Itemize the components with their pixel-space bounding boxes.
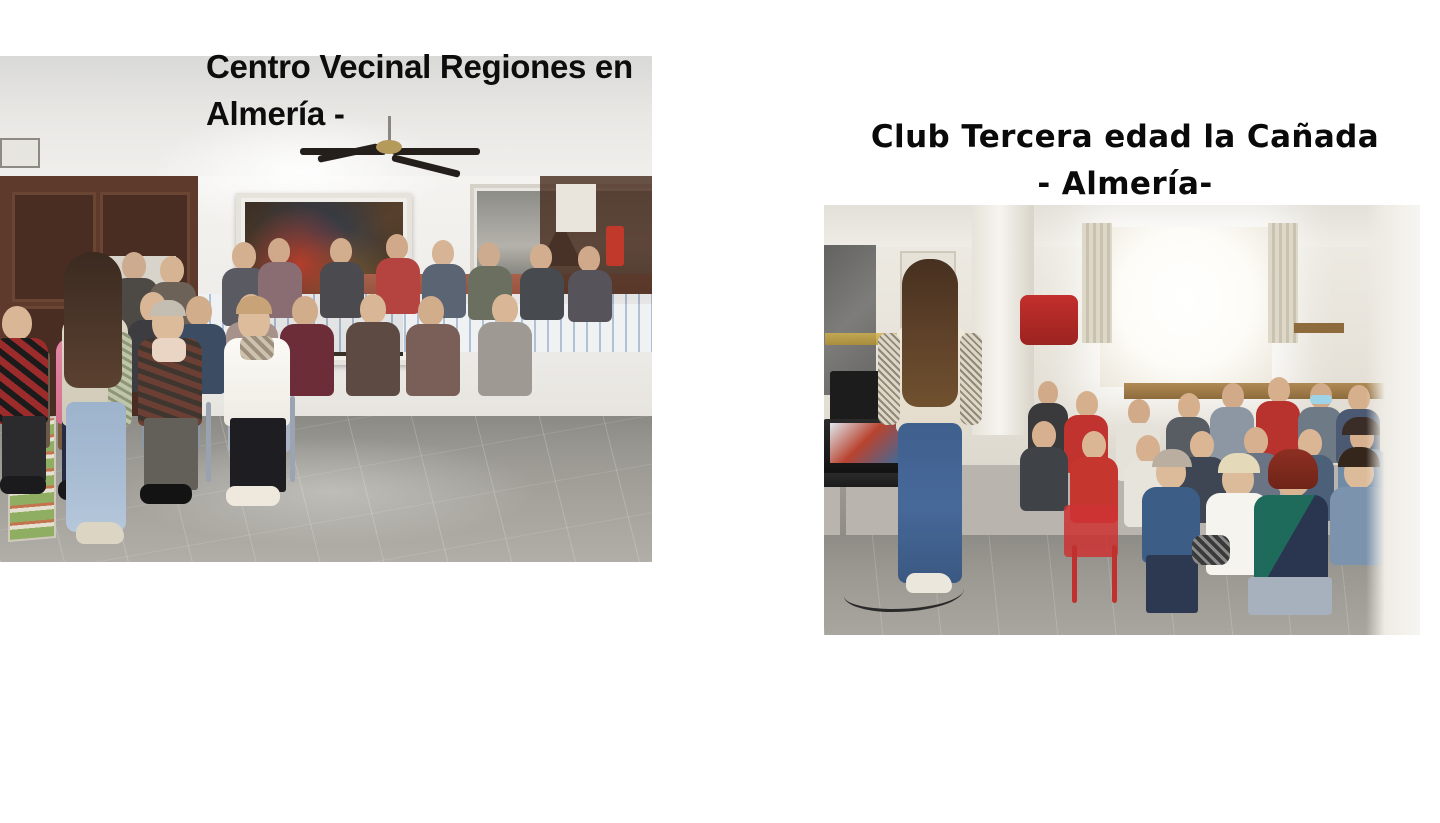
audience-head [1032,421,1056,449]
audience-shoe [140,484,192,504]
chair-leg [1072,545,1077,603]
audience-head [1190,431,1214,459]
face-mask [1310,395,1332,404]
chair-leg [206,402,211,482]
audience-head [232,242,256,270]
audience-head [1222,383,1244,409]
right-wall-edge [1366,205,1420,635]
audience-head [530,244,552,270]
audience-legs [62,416,114,486]
audience-body [1254,495,1328,587]
speaker-shoe [906,573,952,593]
audience-head [1268,377,1290,403]
photo-left-scene [0,56,652,562]
audience-body [1020,447,1068,511]
chair-leg [120,402,125,476]
audience-head [122,252,146,280]
audience-shoe [226,486,280,506]
audience-head [578,246,600,272]
speaker-hair [902,259,958,407]
audience-head [1082,431,1106,459]
audience-legs [144,418,198,490]
bright-window [1100,227,1272,387]
wall-shelf [1294,323,1344,333]
audience-head [478,242,500,268]
photo-right-scene [824,205,1420,635]
audience-body [520,268,564,320]
curtain [1082,223,1112,343]
audience-hair-red [1268,449,1318,489]
audience-head [1128,399,1150,425]
exit-sign [0,138,40,168]
audience-body [478,322,532,396]
audience-scarf [152,338,186,362]
audience-head [432,240,454,266]
ceiling-fan-rod [388,116,391,142]
chair-leg [290,396,295,482]
audience-head [418,296,444,326]
audience-head [330,238,352,264]
speaker-sleeve [960,333,982,425]
audience-head [1076,391,1098,417]
audience-head [160,256,184,284]
audience-legs [230,418,286,492]
audience-head [386,234,408,260]
red-stacked-chairs [1020,295,1078,345]
audience-shoe [0,476,46,494]
title-club-line2: - Almería- [830,161,1420,208]
audience-head [268,238,290,264]
audience-head [1244,427,1268,455]
footer-logos: d Junta de Andalucía Consejería de Inclu… [0,650,1440,823]
audience-scarf [240,336,274,360]
audience-body [0,338,48,424]
ceiling-fan-hub [376,140,402,154]
fire-extinguisher [606,226,624,266]
speaker-sleeve [878,333,900,425]
audience-body [56,338,118,424]
audience-head [292,296,318,326]
audience-head [186,296,212,326]
audience-legs [2,416,46,482]
audience-body [406,324,460,396]
chair-leg [1112,545,1117,603]
speaker-jeans [898,423,962,583]
audience-head [360,294,386,324]
audience-head [1178,393,1200,419]
audience-body [346,322,400,396]
door-panel [12,192,96,302]
photo-club-tercera-edad [824,205,1420,635]
audience-head [492,294,518,324]
audience-legs [1146,555,1198,613]
title-club-tercera-edad: Club Tercera edad la Cañada - Almería- [830,114,1420,207]
chair [1248,577,1332,615]
handbag [1192,535,1230,565]
presentation-slide: Centro Vecinal Regiones en Almería - Clu… [0,0,1440,823]
doorway-light [556,184,596,232]
audience-shoe [58,480,108,500]
photo-centro-vecinal [0,56,652,562]
ceiling-fan-blade [392,148,480,155]
audience-body [320,262,364,318]
title-club-line1: Club Tercera edad la Cañada [830,114,1420,161]
audience-head [1038,381,1058,405]
audience-body [568,270,612,322]
audience-head [2,306,32,340]
